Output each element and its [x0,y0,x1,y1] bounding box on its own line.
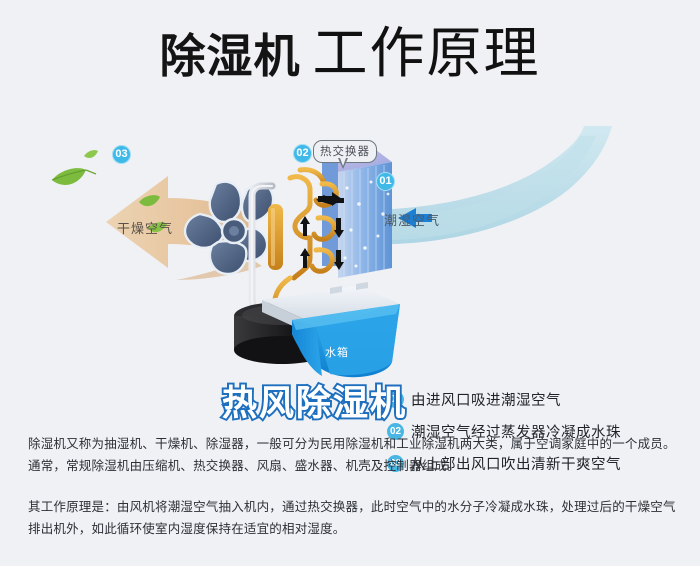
page-title-part1: 除湿机 [159,30,300,82]
label-heat-exchanger: 热交换器 [320,146,370,158]
description-paragraph-2: 其工作原理是：由风机将潮湿空气抽入机内，通过热交换器，此时空气中的水分子冷凝成水… [28,496,676,540]
watermark-text: 热风除湿机 [222,386,407,421]
page-title-part2: 工作原理 [312,22,540,84]
callout-tail-icon [338,158,348,169]
step-label: 由进风口吸进潮湿空气 [411,389,561,410]
step-item: 01 由进风口吸进潮湿空气 [387,383,687,415]
label-moist-air: 潮湿空气 [384,210,440,229]
leaf-icon [52,168,96,185]
leaf-icon [84,150,98,158]
diagram-badge-inlet: 01 [376,172,395,191]
diagram-badge-outlet: 03 [112,145,131,164]
fan-icon [185,182,273,274]
label-water-tank: 水箱 [325,344,349,360]
description-paragraph-1: 除湿机又称为抽湿机、干燥机、除湿器，一般可分为民用除湿机和工业除湿机两大类，属于… [28,433,676,477]
diagram-badge-exchanger: 02 [293,144,312,163]
page-title: 除湿机工作原理 [0,26,700,81]
dehumidifier-diagram: 干燥空气 潮湿空气 水箱 热交换器 03 02 01 01 由进风口吸进潮湿空气… [0,118,700,393]
page-root: 除湿机工作原理 [0,0,700,566]
label-dry-air: 干燥空气 [117,218,173,237]
